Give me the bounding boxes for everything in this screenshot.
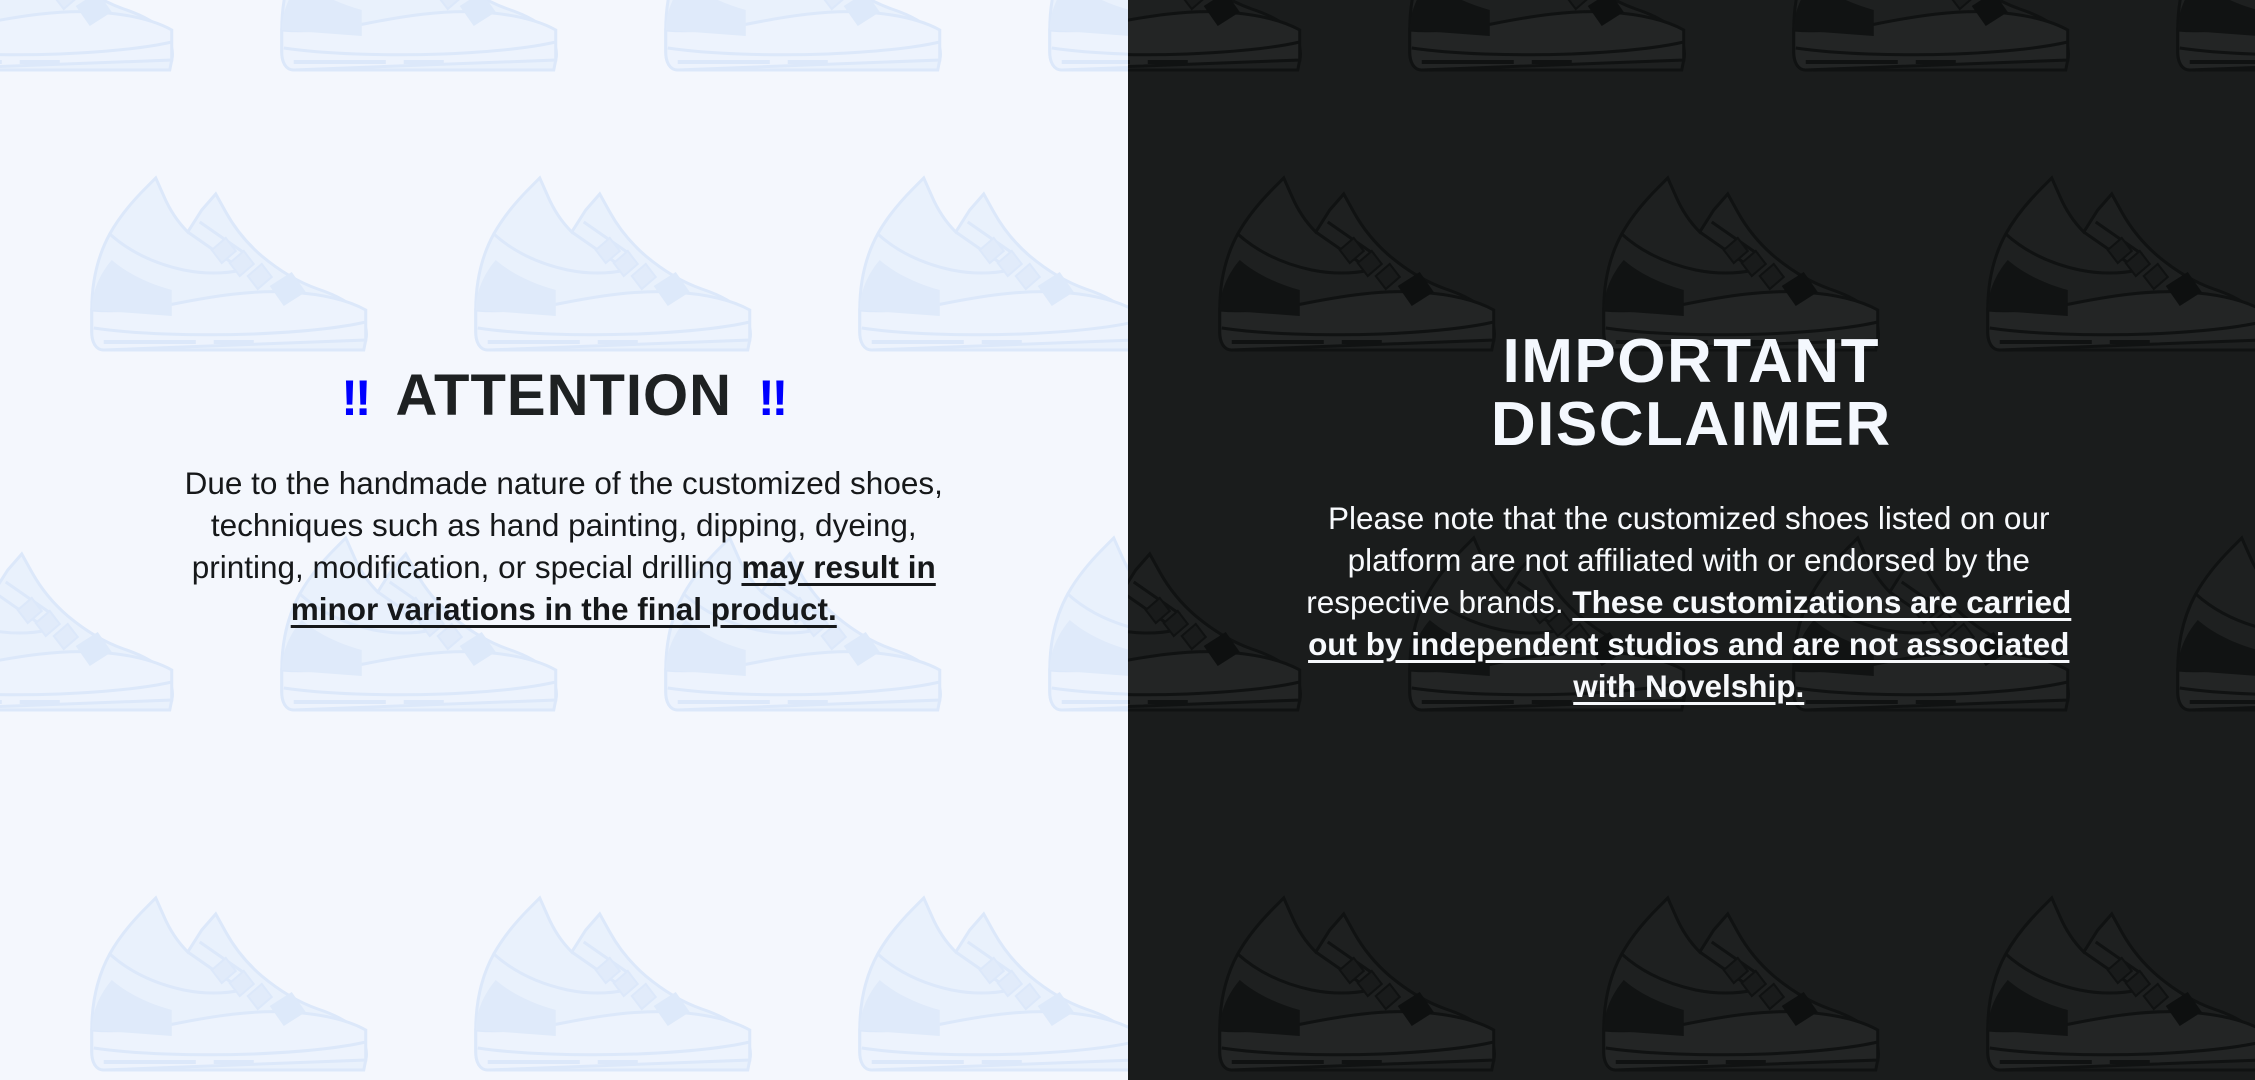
disclaimer-heading: IMPORTANT DISCLAIMER — [1284, 330, 2099, 456]
disclaimer-body: Please note that the customized shoes li… — [1284, 498, 2094, 707]
attention-heading-word: ATTENTION — [395, 366, 732, 427]
disclaimer-heading-line1: IMPORTANT — [1284, 330, 2099, 393]
attention-content: ‼ ATTENTION ‼ Due to the handmade nature… — [0, 0, 1128, 1080]
disclaimer-banner: ‼ ATTENTION ‼ Due to the handmade nature… — [0, 0, 2255, 1080]
double-exclamation-icon-left: ‼ — [341, 373, 369, 423]
double-exclamation-icon-right: ‼ — [758, 373, 786, 423]
attention-panel: ‼ ATTENTION ‼ Due to the handmade nature… — [0, 0, 1128, 1080]
disclaimer-panel: IMPORTANT DISCLAIMER Please note that th… — [1128, 0, 2255, 1080]
disclaimer-heading-line2: DISCLAIMER — [1284, 393, 2099, 456]
disclaimer-content: IMPORTANT DISCLAIMER Please note that th… — [1128, 0, 2255, 1080]
attention-heading: ‼ ATTENTION ‼ — [156, 366, 971, 427]
attention-body: Due to the handmade nature of the custom… — [156, 463, 971, 631]
